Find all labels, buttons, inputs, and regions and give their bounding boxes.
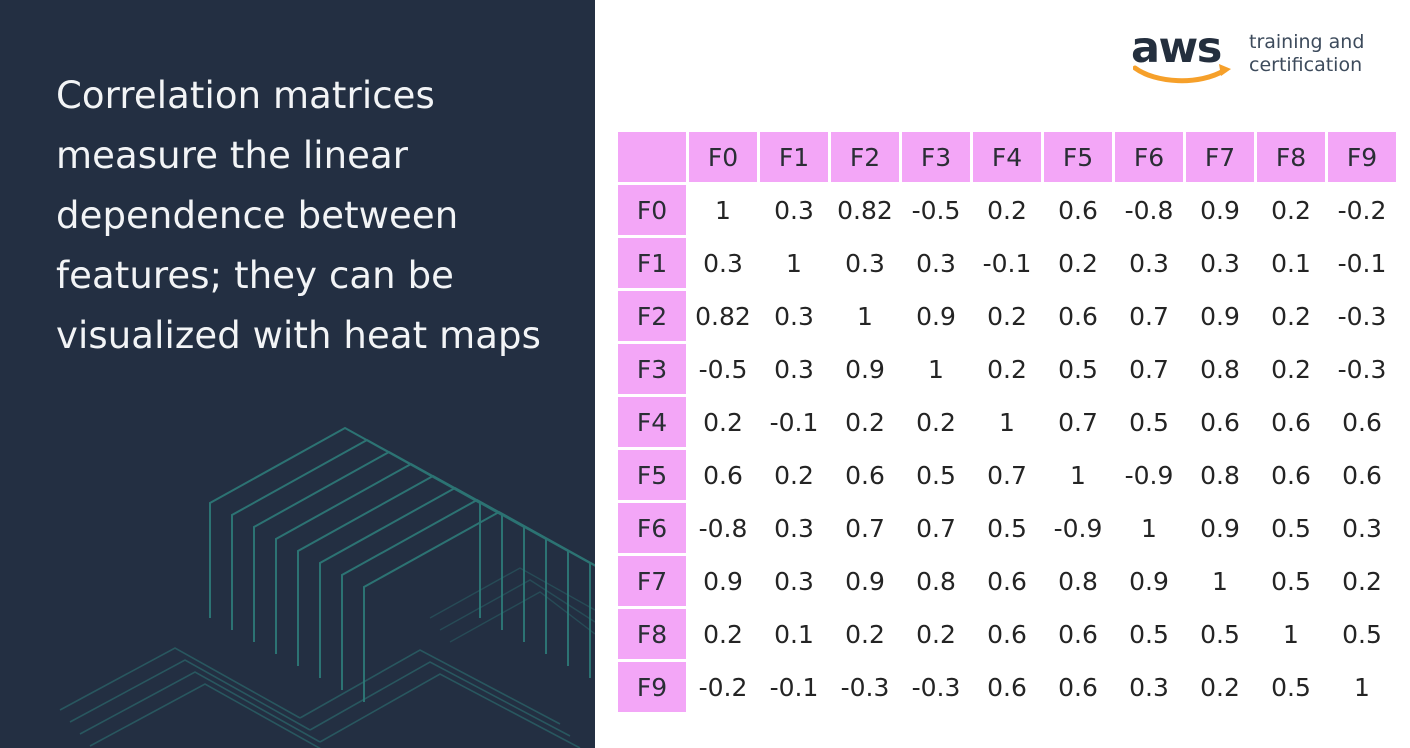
matrix-cell: 0.8 [1186, 450, 1254, 500]
matrix-cell: 0.9 [1186, 185, 1254, 235]
matrix-corner-cell [618, 132, 686, 182]
matrix-cell: -0.3 [1328, 291, 1396, 341]
matrix-cell: 0.5 [1186, 609, 1254, 659]
matrix-cell: 0.3 [760, 503, 828, 553]
correlation-matrix-table: F0F1F2F3F4F5F6F7F8F9 F010.30.82-0.50.20.… [615, 129, 1399, 715]
matrix-cell: 0.82 [831, 185, 899, 235]
matrix-cell: 0.6 [1328, 397, 1396, 447]
matrix-col-header: F5 [1044, 132, 1112, 182]
table-row: F3-0.50.30.910.20.50.70.80.2-0.3 [618, 344, 1396, 394]
matrix-cell: 1 [1044, 450, 1112, 500]
matrix-cell: 0.5 [1044, 344, 1112, 394]
matrix-row-header: F4 [618, 397, 686, 447]
matrix-cell: -0.3 [1328, 344, 1396, 394]
isometric-cube-decoration-icon [0, 318, 595, 748]
aws-logo: aws training and certification [1131, 24, 1381, 86]
matrix-cell: 0.5 [1257, 662, 1325, 712]
table-row: F40.2-0.10.20.210.70.50.60.60.6 [618, 397, 1396, 447]
matrix-cell: 1 [1328, 662, 1396, 712]
matrix-cell: 0.7 [1115, 291, 1183, 341]
matrix-row-header: F5 [618, 450, 686, 500]
matrix-col-header: F6 [1115, 132, 1183, 182]
aws-smile-arrow-icon [1133, 62, 1235, 84]
table-row: F70.90.30.90.80.60.80.910.50.2 [618, 556, 1396, 606]
matrix-cell: 0.2 [1257, 291, 1325, 341]
matrix-cell: 1 [1115, 503, 1183, 553]
matrix-cell: 0.3 [1186, 238, 1254, 288]
matrix-row-header: F9 [618, 662, 686, 712]
matrix-cell: 0.8 [902, 556, 970, 606]
matrix-col-header: F7 [1186, 132, 1254, 182]
matrix-cell: -0.8 [1115, 185, 1183, 235]
matrix-col-header: F8 [1257, 132, 1325, 182]
matrix-col-header: F9 [1328, 132, 1396, 182]
matrix-row-header: F6 [618, 503, 686, 553]
matrix-cell: -0.8 [689, 503, 757, 553]
matrix-cell: -0.5 [902, 185, 970, 235]
matrix-cell: 0.2 [689, 609, 757, 659]
matrix-cell: 0.9 [831, 556, 899, 606]
matrix-cell: 0.5 [1115, 609, 1183, 659]
matrix-cell: 1 [1186, 556, 1254, 606]
matrix-col-header: F0 [689, 132, 757, 182]
matrix-cell: 1 [902, 344, 970, 394]
matrix-row-header: F3 [618, 344, 686, 394]
matrix-header-row: F0F1F2F3F4F5F6F7F8F9 [618, 132, 1396, 182]
matrix-cell: 0.7 [1044, 397, 1112, 447]
matrix-cell: 0.8 [1186, 344, 1254, 394]
matrix-cell: 0.9 [1186, 503, 1254, 553]
matrix-cell: 0.2 [831, 609, 899, 659]
matrix-cell: 0.2 [1257, 185, 1325, 235]
matrix-cell: 0.2 [689, 397, 757, 447]
matrix-cell: 0.9 [831, 344, 899, 394]
matrix-col-header: F2 [831, 132, 899, 182]
matrix-cell: 0.2 [902, 609, 970, 659]
matrix-cell: 0.3 [831, 238, 899, 288]
slide-root: Correlation matrices measure the linear … [0, 0, 1410, 748]
matrix-cell: 0.2 [973, 185, 1041, 235]
matrix-cell: -0.3 [902, 662, 970, 712]
matrix-cell: 0.5 [973, 503, 1041, 553]
aws-tagline-line1: training and [1249, 31, 1364, 54]
matrix-cell: 0.9 [902, 291, 970, 341]
table-row: F9-0.2-0.1-0.3-0.30.60.60.30.20.51 [618, 662, 1396, 712]
matrix-cell: 0.2 [1186, 662, 1254, 712]
matrix-cell: 0.6 [1044, 185, 1112, 235]
matrix-cell: 0.6 [1044, 291, 1112, 341]
matrix-cell: 1 [689, 185, 757, 235]
matrix-cell: 1 [760, 238, 828, 288]
matrix-cell: 1 [1257, 609, 1325, 659]
matrix-cell: 0.7 [1115, 344, 1183, 394]
matrix-cell: -0.3 [831, 662, 899, 712]
matrix-cell: -0.2 [689, 662, 757, 712]
matrix-cell: 0.3 [902, 238, 970, 288]
matrix-cell: 0.2 [1044, 238, 1112, 288]
matrix-cell: 0.3 [1328, 503, 1396, 553]
matrix-cell: 0.7 [902, 503, 970, 553]
matrix-cell: -0.1 [973, 238, 1041, 288]
matrix-cell: 0.2 [973, 344, 1041, 394]
matrix-row-header: F2 [618, 291, 686, 341]
matrix-cell: 0.9 [1186, 291, 1254, 341]
left-dark-panel: Correlation matrices measure the linear … [0, 0, 595, 748]
table-row: F6-0.80.30.70.70.5-0.910.90.50.3 [618, 503, 1396, 553]
matrix-cell: -0.9 [1044, 503, 1112, 553]
table-row: F010.30.82-0.50.20.6-0.80.90.2-0.2 [618, 185, 1396, 235]
matrix-cell: 1 [831, 291, 899, 341]
matrix-cell: 0.7 [831, 503, 899, 553]
matrix-cell: -0.1 [1328, 238, 1396, 288]
matrix-cell: 0.6 [1186, 397, 1254, 447]
matrix-cell: 0.6 [973, 609, 1041, 659]
matrix-cell: 0.5 [902, 450, 970, 500]
matrix-col-header: F1 [760, 132, 828, 182]
matrix-row-header: F8 [618, 609, 686, 659]
matrix-cell: 0.3 [760, 556, 828, 606]
matrix-cell: 0.2 [902, 397, 970, 447]
matrix-cell: 0.6 [973, 556, 1041, 606]
matrix-cell: 0.6 [1044, 609, 1112, 659]
matrix-cell: 0.82 [689, 291, 757, 341]
matrix-cell: 0.6 [689, 450, 757, 500]
matrix-cell: 0.2 [1257, 344, 1325, 394]
matrix-cell: -0.1 [760, 397, 828, 447]
matrix-header: F0F1F2F3F4F5F6F7F8F9 [618, 132, 1396, 182]
matrix-row-header: F1 [618, 238, 686, 288]
matrix-cell: 0.6 [1257, 450, 1325, 500]
matrix-body: F010.30.82-0.50.20.6-0.80.90.2-0.2F10.31… [618, 185, 1396, 712]
matrix-cell: 0.5 [1328, 609, 1396, 659]
matrix-cell: -0.1 [760, 662, 828, 712]
matrix-cell: 0.7 [973, 450, 1041, 500]
matrix-cell: 0.2 [831, 397, 899, 447]
correlation-matrix: F0F1F2F3F4F5F6F7F8F9 F010.30.82-0.50.20.… [615, 129, 1393, 715]
matrix-cell: 0.5 [1115, 397, 1183, 447]
page-title: Correlation matrices measure the linear … [56, 66, 556, 366]
matrix-row-header: F0 [618, 185, 686, 235]
matrix-cell: -0.2 [1328, 185, 1396, 235]
matrix-cell: 0.3 [1115, 238, 1183, 288]
matrix-row-header: F7 [618, 556, 686, 606]
table-row: F80.20.10.20.20.60.60.50.510.5 [618, 609, 1396, 659]
matrix-cell: 0.1 [760, 609, 828, 659]
table-row: F20.820.310.90.20.60.70.90.2-0.3 [618, 291, 1396, 341]
matrix-cell: -0.5 [689, 344, 757, 394]
matrix-col-header: F3 [902, 132, 970, 182]
matrix-cell: 0.1 [1257, 238, 1325, 288]
matrix-cell: 0.3 [760, 291, 828, 341]
matrix-cell: 0.6 [973, 662, 1041, 712]
matrix-cell: 0.6 [1257, 397, 1325, 447]
matrix-cell: 0.2 [1328, 556, 1396, 606]
table-row: F10.310.30.3-0.10.20.30.30.1-0.1 [618, 238, 1396, 288]
matrix-cell: 0.5 [1257, 556, 1325, 606]
matrix-cell: 0.9 [1115, 556, 1183, 606]
matrix-cell: 0.3 [760, 344, 828, 394]
matrix-cell: 0.5 [1257, 503, 1325, 553]
matrix-cell: 0.2 [973, 291, 1041, 341]
aws-tagline-line2: certification [1249, 54, 1364, 77]
table-row: F50.60.20.60.50.71-0.90.80.60.6 [618, 450, 1396, 500]
matrix-cell: 0.9 [689, 556, 757, 606]
matrix-cell: 1 [973, 397, 1041, 447]
aws-tagline: training and certification [1249, 31, 1364, 79]
matrix-cell: 0.6 [1044, 662, 1112, 712]
matrix-cell: 0.3 [760, 185, 828, 235]
matrix-cell: 0.6 [1328, 450, 1396, 500]
matrix-cell: 0.3 [1115, 662, 1183, 712]
aws-wordmark-icon: aws [1131, 26, 1235, 84]
matrix-cell: 0.3 [689, 238, 757, 288]
matrix-cell: 0.8 [1044, 556, 1112, 606]
matrix-cell: 0.2 [760, 450, 828, 500]
matrix-cell: 0.6 [831, 450, 899, 500]
matrix-cell: -0.9 [1115, 450, 1183, 500]
matrix-col-header: F4 [973, 132, 1041, 182]
